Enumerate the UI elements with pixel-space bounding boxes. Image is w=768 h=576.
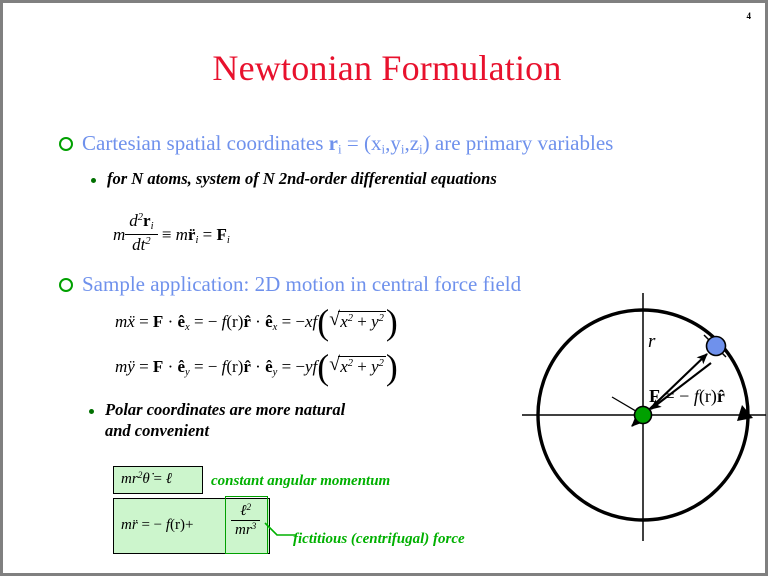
center-mass-marker (635, 407, 652, 424)
coefficient-yf: yf (305, 357, 317, 376)
eq-mass-x: m (115, 312, 127, 331)
bullet-cartesian-coordinates: Cartesian spatial coordinates ri = (xi,y… (59, 130, 613, 163)
fraction-denominator: dt2 (125, 235, 157, 255)
sqrt-x: x2 + y2 (329, 311, 386, 332)
left-paren-x: ( (317, 313, 329, 333)
dot-bullet-icon (91, 178, 96, 183)
slide-canvas: 4 Newtonian Formulation Cartesian spatia… (0, 0, 768, 576)
e-subscript-x-2: x (273, 322, 278, 333)
centrifugal-ell-exp: 2 (246, 503, 251, 513)
force-label-F: F (649, 386, 660, 406)
coefficient-xf: xf (305, 312, 317, 331)
e-subscript-y-2: y (273, 367, 278, 378)
dot-product-2: · (255, 312, 261, 331)
am-theta-dot: θ̇ (142, 471, 149, 487)
d-symbol: d (129, 211, 138, 230)
radicand-y-xexp: 2 (348, 358, 353, 369)
leader-line-fictitious (265, 519, 299, 541)
force-label: F = − f(r)r̂ (649, 386, 725, 407)
radicand-x-var: x (340, 312, 348, 331)
force-label-rhat: r̂ (717, 386, 725, 406)
bullet-sample-application: Sample application: 2D motion in central… (59, 271, 521, 297)
force-vector-F-y: F (153, 357, 163, 376)
dt-exponent: 2 (145, 236, 150, 247)
radicand-plus-x: + (357, 312, 367, 331)
equation-cartesian-x: mẍ = F · êx = − f(r)r̂ · êx = −xf(x2 + … (115, 311, 398, 333)
sub-bullet-n-atoms: for N atoms, system of N 2nd-order diffe… (91, 168, 497, 189)
eq-mass: m (113, 225, 125, 244)
equation-radial: mr̈ = − f(r)+ (121, 517, 194, 534)
equation-newton-second-law: md2ridt2 ≡ mr̈i = Fi (113, 214, 230, 258)
dot-bullet-icon-2 (89, 409, 94, 414)
force-subscript: i (227, 235, 230, 246)
unit-vector-e-y-2: ê (265, 357, 273, 376)
bullet-sample-application-text: Sample application: 2D motion in central… (82, 271, 521, 297)
rad-of-r: (r) (170, 517, 185, 533)
radicand-x-exp: 2 (348, 313, 353, 324)
r-hat-x: r̂ (243, 312, 251, 331)
ring-bullet-icon-2 (59, 278, 73, 292)
rad-equals: = − (141, 517, 165, 533)
derivative-fraction: d2ridt2 (125, 211, 157, 255)
equals-y-1: = (139, 357, 153, 376)
equation-cartesian-y: mÿ = F · êy = − f(r)r̂ · êy = −yf(x2 + … (115, 356, 398, 378)
sub-bullet-polar-line2: and convenient (105, 420, 345, 441)
numerator-subscript: i (151, 222, 154, 233)
equals-y-3: = − (282, 357, 305, 376)
r-double-dot-subscript: i (195, 235, 198, 246)
sub-bullet-polar-text-wrap: Polar coordinates are more natural and c… (105, 399, 345, 441)
am-ell: ℓ (166, 471, 172, 487)
ring-bullet-icon (59, 137, 73, 151)
x-double-dot: ẍ (127, 312, 135, 331)
bullet-tail: ) are primary variables (423, 131, 614, 155)
right-paren-x: ) (386, 313, 398, 333)
page-title: Newtonian Formulation (3, 47, 768, 89)
fraction-numerator: d2ri (125, 211, 157, 234)
radicand-y-xvar: x (340, 357, 348, 376)
sub-bullet-polar-line1: Polar coordinates are more natural (105, 399, 345, 420)
fraction-centrifugal: ℓ2mr3 (231, 505, 260, 541)
force-label-of-r: (r) (699, 386, 717, 406)
of-r-x: (r) (226, 312, 243, 331)
eq-mass-2: m (176, 225, 188, 244)
bullet-mid1: ,y (385, 131, 401, 155)
radicand-y-yexp: 2 (379, 358, 384, 369)
rad-r-double-dot: r̈ (132, 517, 138, 533)
eq-mass-y: m (115, 357, 127, 376)
rad-mass: m (121, 517, 132, 533)
force-vector-F-x: F (153, 312, 163, 331)
r-hat-y: r̂ (243, 357, 251, 376)
orbit-direction-arrowhead (737, 405, 753, 421)
dt-symbol: dt (132, 235, 145, 254)
equals-x-1: = (139, 312, 153, 331)
equals-sign: = (203, 225, 213, 244)
slide-number: 4 (747, 11, 752, 21)
bullet-lead: Cartesian spatial coordinates (82, 131, 329, 155)
right-paren-y: ) (386, 358, 398, 378)
left-paren-y: ( (317, 358, 329, 378)
radicand-y-var: y (371, 312, 379, 331)
dot-product-1: · (168, 312, 174, 331)
am-mass: m (121, 471, 132, 487)
am-equals: = (153, 471, 161, 487)
rad-plus: + (185, 517, 193, 533)
dot-product-4: · (255, 357, 261, 376)
radicand-y: x2 + y2 (338, 356, 386, 377)
bullet-cartesian-text: Cartesian spatial coordinates ri = (xi,y… (82, 130, 613, 163)
radicand-plus-y: + (357, 357, 367, 376)
bullet-mid2: ,z (404, 131, 419, 155)
sqrt-y: x2 + y2 (329, 356, 386, 377)
equiv-sign: ≡ (162, 225, 172, 244)
radicand-y-yvar: y (371, 357, 379, 376)
radius-label: r (648, 331, 655, 353)
equals-y-2: = − (194, 357, 222, 376)
centrifugal-denominator: mr3 (231, 521, 260, 539)
e-subscript-y-1: y (185, 367, 190, 378)
bullet-eq: = (x (342, 131, 382, 155)
of-r-y: (r) (226, 357, 243, 376)
centrifugal-mr: mr (235, 522, 252, 538)
note-fictitious-force: fictitious (centrifugal) force (293, 531, 465, 548)
equals-x-2: = − (194, 312, 222, 331)
centrifugal-fraction: ℓ2mr3 (231, 503, 260, 539)
equals-x-3: = − (282, 312, 305, 331)
unit-vector-e-y-1: ê (177, 357, 185, 376)
note-constant-angular-momentum: constant angular momentum (211, 473, 390, 490)
equation-angular-momentum: mr2θ̇ = ℓ (121, 471, 172, 488)
sub-bullet-polar-coordinates: Polar coordinates are more natural and c… (89, 399, 345, 441)
vector-r: r (329, 131, 338, 155)
e-subscript-x-1: x (185, 322, 190, 333)
centrifugal-numerator: ℓ2 (231, 503, 260, 521)
dot-product-3: · (168, 357, 174, 376)
sub-bullet-n-atoms-text: for N atoms, system of N 2nd-order diffe… (107, 168, 497, 189)
unit-vector-e-x-2: ê (265, 312, 273, 331)
force-vector-F: F (216, 225, 226, 244)
centrifugal-mr-exp: 3 (252, 522, 257, 532)
force-label-eq: = − (665, 386, 694, 406)
central-force-diagram: r F = − f(r)r̂ (508, 285, 768, 543)
radicand-x: x2 + y2 (338, 311, 386, 332)
y-double-dot: ÿ (127, 357, 135, 376)
numerator-vector-r: r (143, 211, 151, 230)
particle-marker (707, 337, 726, 356)
radicand-y-exp: 2 (379, 313, 384, 324)
unit-vector-e-x-1: ê (177, 312, 185, 331)
